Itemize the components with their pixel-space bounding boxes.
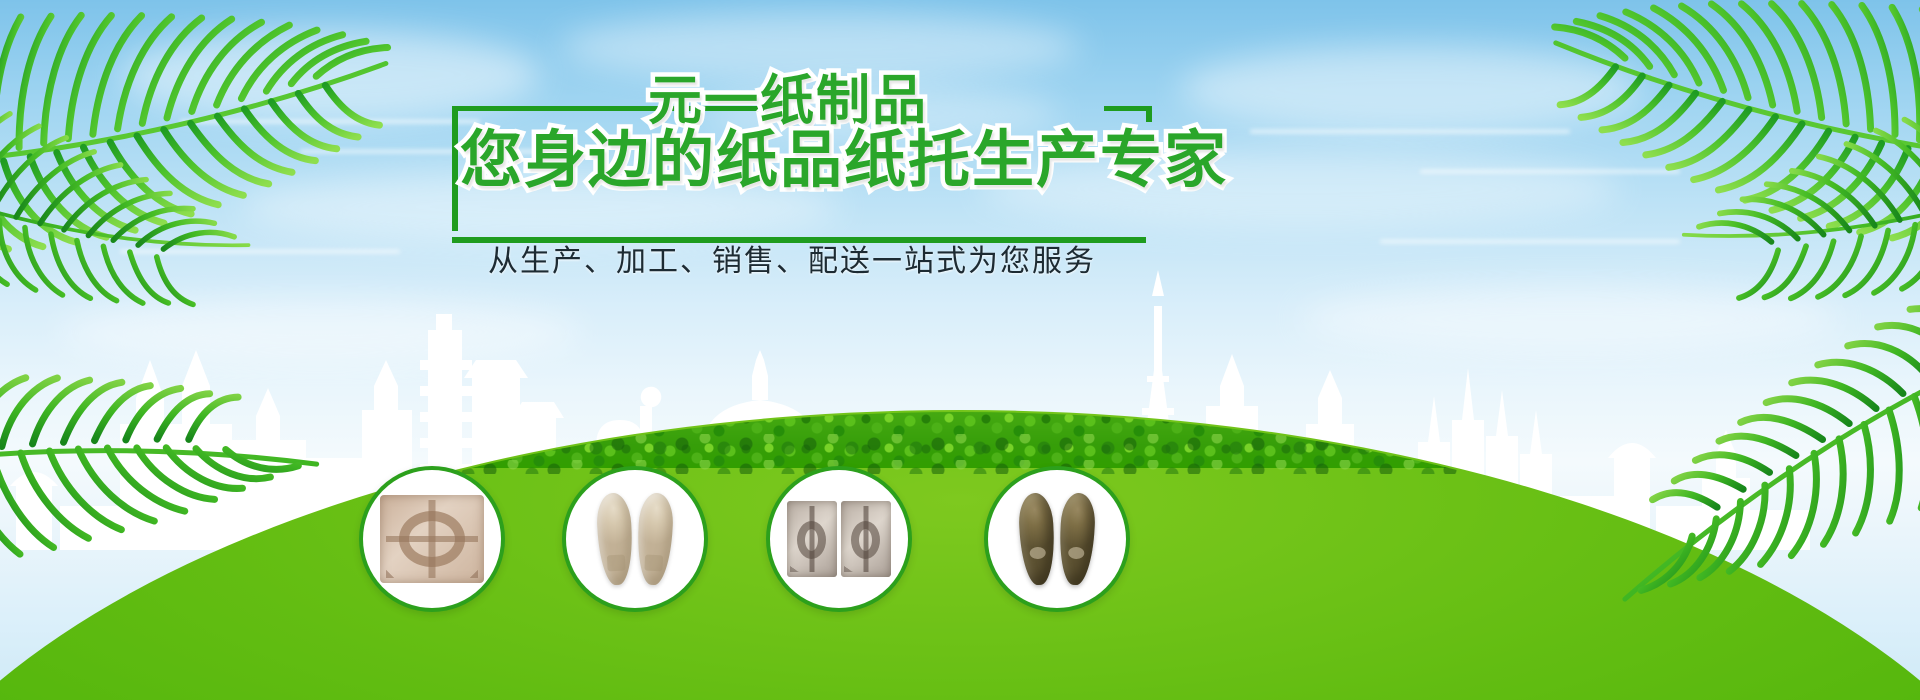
headline-block: 元一纸制品 您身边的纸品纸托生产专家 bbox=[452, 96, 1152, 231]
shoe-right bbox=[1058, 492, 1097, 586]
shoe-left bbox=[596, 492, 635, 586]
dark-shoe-pair-graphic bbox=[1005, 491, 1109, 587]
palm-frond-icon bbox=[0, 0, 292, 408]
product-circle-pale-paper-shoe-tree[interactable] bbox=[562, 466, 708, 612]
cloud bbox=[60, 300, 580, 364]
cloud-streak bbox=[180, 120, 480, 123]
pulp-block-right bbox=[841, 501, 891, 577]
product-circle-square-pulp-tray[interactable] bbox=[359, 466, 505, 612]
product-circle-row bbox=[0, 380, 1920, 700]
palm-frond-icon bbox=[1641, 0, 1920, 406]
cloud-streak bbox=[1380, 240, 1680, 243]
palm-frond-icon bbox=[1529, 0, 1920, 278]
cloud bbox=[1300, 286, 1840, 352]
frame-right-edge bbox=[1146, 106, 1152, 122]
cloud bbox=[1180, 46, 1640, 132]
frame-top-right-edge bbox=[1104, 106, 1152, 111]
frame-left-edge bbox=[452, 106, 458, 231]
shoe-left bbox=[1018, 492, 1057, 586]
square-pulp-tray-image bbox=[380, 491, 484, 587]
promo-banner: 元一纸制品 您身边的纸品纸托生产专家 从生产、加工、销售、配送一站式为您服务 bbox=[0, 0, 1920, 700]
cloud-streak bbox=[120, 250, 400, 253]
cloud-streak bbox=[1420, 170, 1680, 173]
shoe-pair-graphic bbox=[583, 491, 687, 587]
grey-pulp-corner-block-image bbox=[787, 491, 891, 587]
dark-paper-shoe-tree-image bbox=[1005, 491, 1109, 587]
pulp-block-left bbox=[787, 501, 837, 577]
tagline-text: 从生产、加工、销售、配送一站式为您服务 bbox=[488, 236, 1128, 280]
headline-primary: 元一纸制品 bbox=[648, 74, 928, 128]
cloud-streak bbox=[1250, 130, 1570, 133]
headline-secondary: 您身边的纸品纸托生产专家 bbox=[460, 130, 1228, 192]
shoe-right bbox=[636, 492, 675, 586]
product-circle-dark-paper-shoe-tree[interactable] bbox=[984, 466, 1130, 612]
product-circle-grey-pulp-corner-block[interactable] bbox=[766, 466, 912, 612]
pulp-block-pair-graphic bbox=[787, 501, 891, 577]
pulp-tray-graphic bbox=[380, 495, 484, 583]
pale-paper-shoe-tree-image bbox=[583, 491, 687, 587]
